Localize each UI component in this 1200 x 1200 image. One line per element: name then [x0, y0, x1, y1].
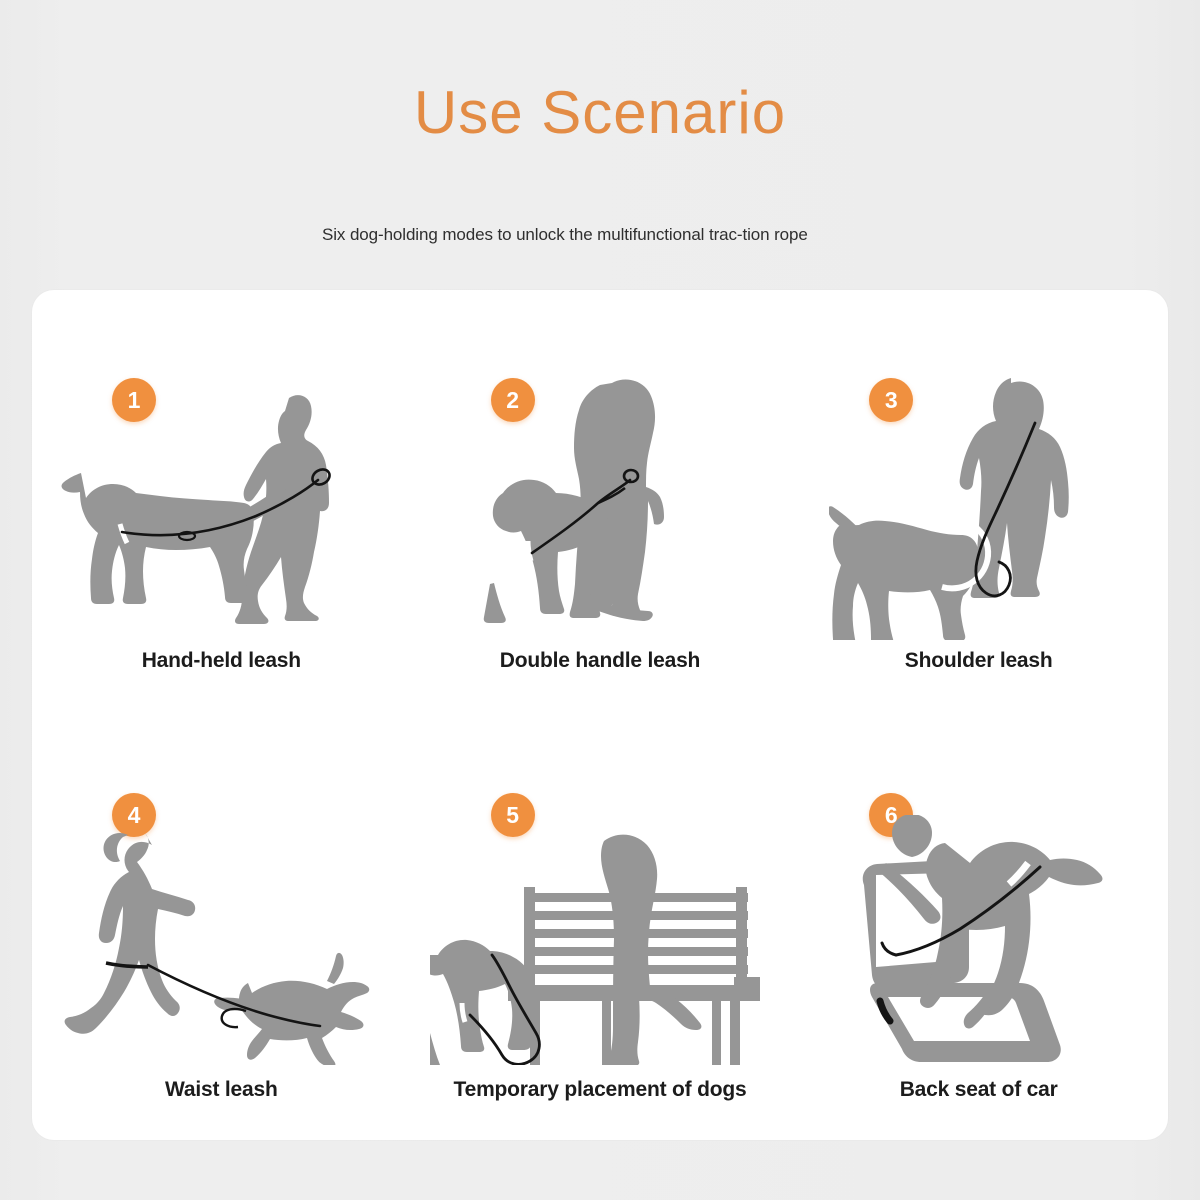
scenario-panel-5[interactable]: 5	[411, 715, 790, 1140]
waist-leash-illustration	[32, 785, 411, 1065]
scenario-panel-3[interactable]: 3	[789, 290, 1168, 715]
page-title: Use Scenario	[0, 78, 1200, 147]
hand-held-leash-illustration	[32, 360, 411, 640]
scenario-panel-6[interactable]: 6	[789, 715, 1168, 1140]
scenario-label-3: Shoulder leash	[789, 649, 1168, 673]
back-seat-of-car-illustration	[789, 785, 1168, 1065]
scenario-panel-2[interactable]: 2	[411, 290, 790, 715]
temporary-placement-illustration	[411, 785, 790, 1065]
scenario-label-2: Double handle leash	[411, 649, 790, 673]
double-handle-leash-illustration	[411, 360, 790, 640]
scenario-panel-1[interactable]: 1	[32, 290, 411, 715]
header: Use Scenario Six dog-holding modes to un…	[0, 0, 1200, 290]
scenario-label-4: Waist leash	[32, 1078, 411, 1102]
scenario-label-6: Back seat of car	[789, 1078, 1168, 1102]
scenario-label-5: Temporary placement of dogs	[411, 1078, 790, 1102]
scenario-panel-4[interactable]: 4	[32, 715, 411, 1140]
shoulder-leash-illustration	[789, 360, 1168, 640]
scenarios-grid: 1	[32, 290, 1168, 1140]
page-background: Use Scenario Six dog-holding modes to un…	[0, 0, 1200, 1200]
scenarios-card: 1	[32, 290, 1168, 1140]
page-subtitle: Six dog-holding modes to unlock the mult…	[322, 222, 882, 247]
scenario-label-1: Hand-held leash	[32, 649, 411, 673]
